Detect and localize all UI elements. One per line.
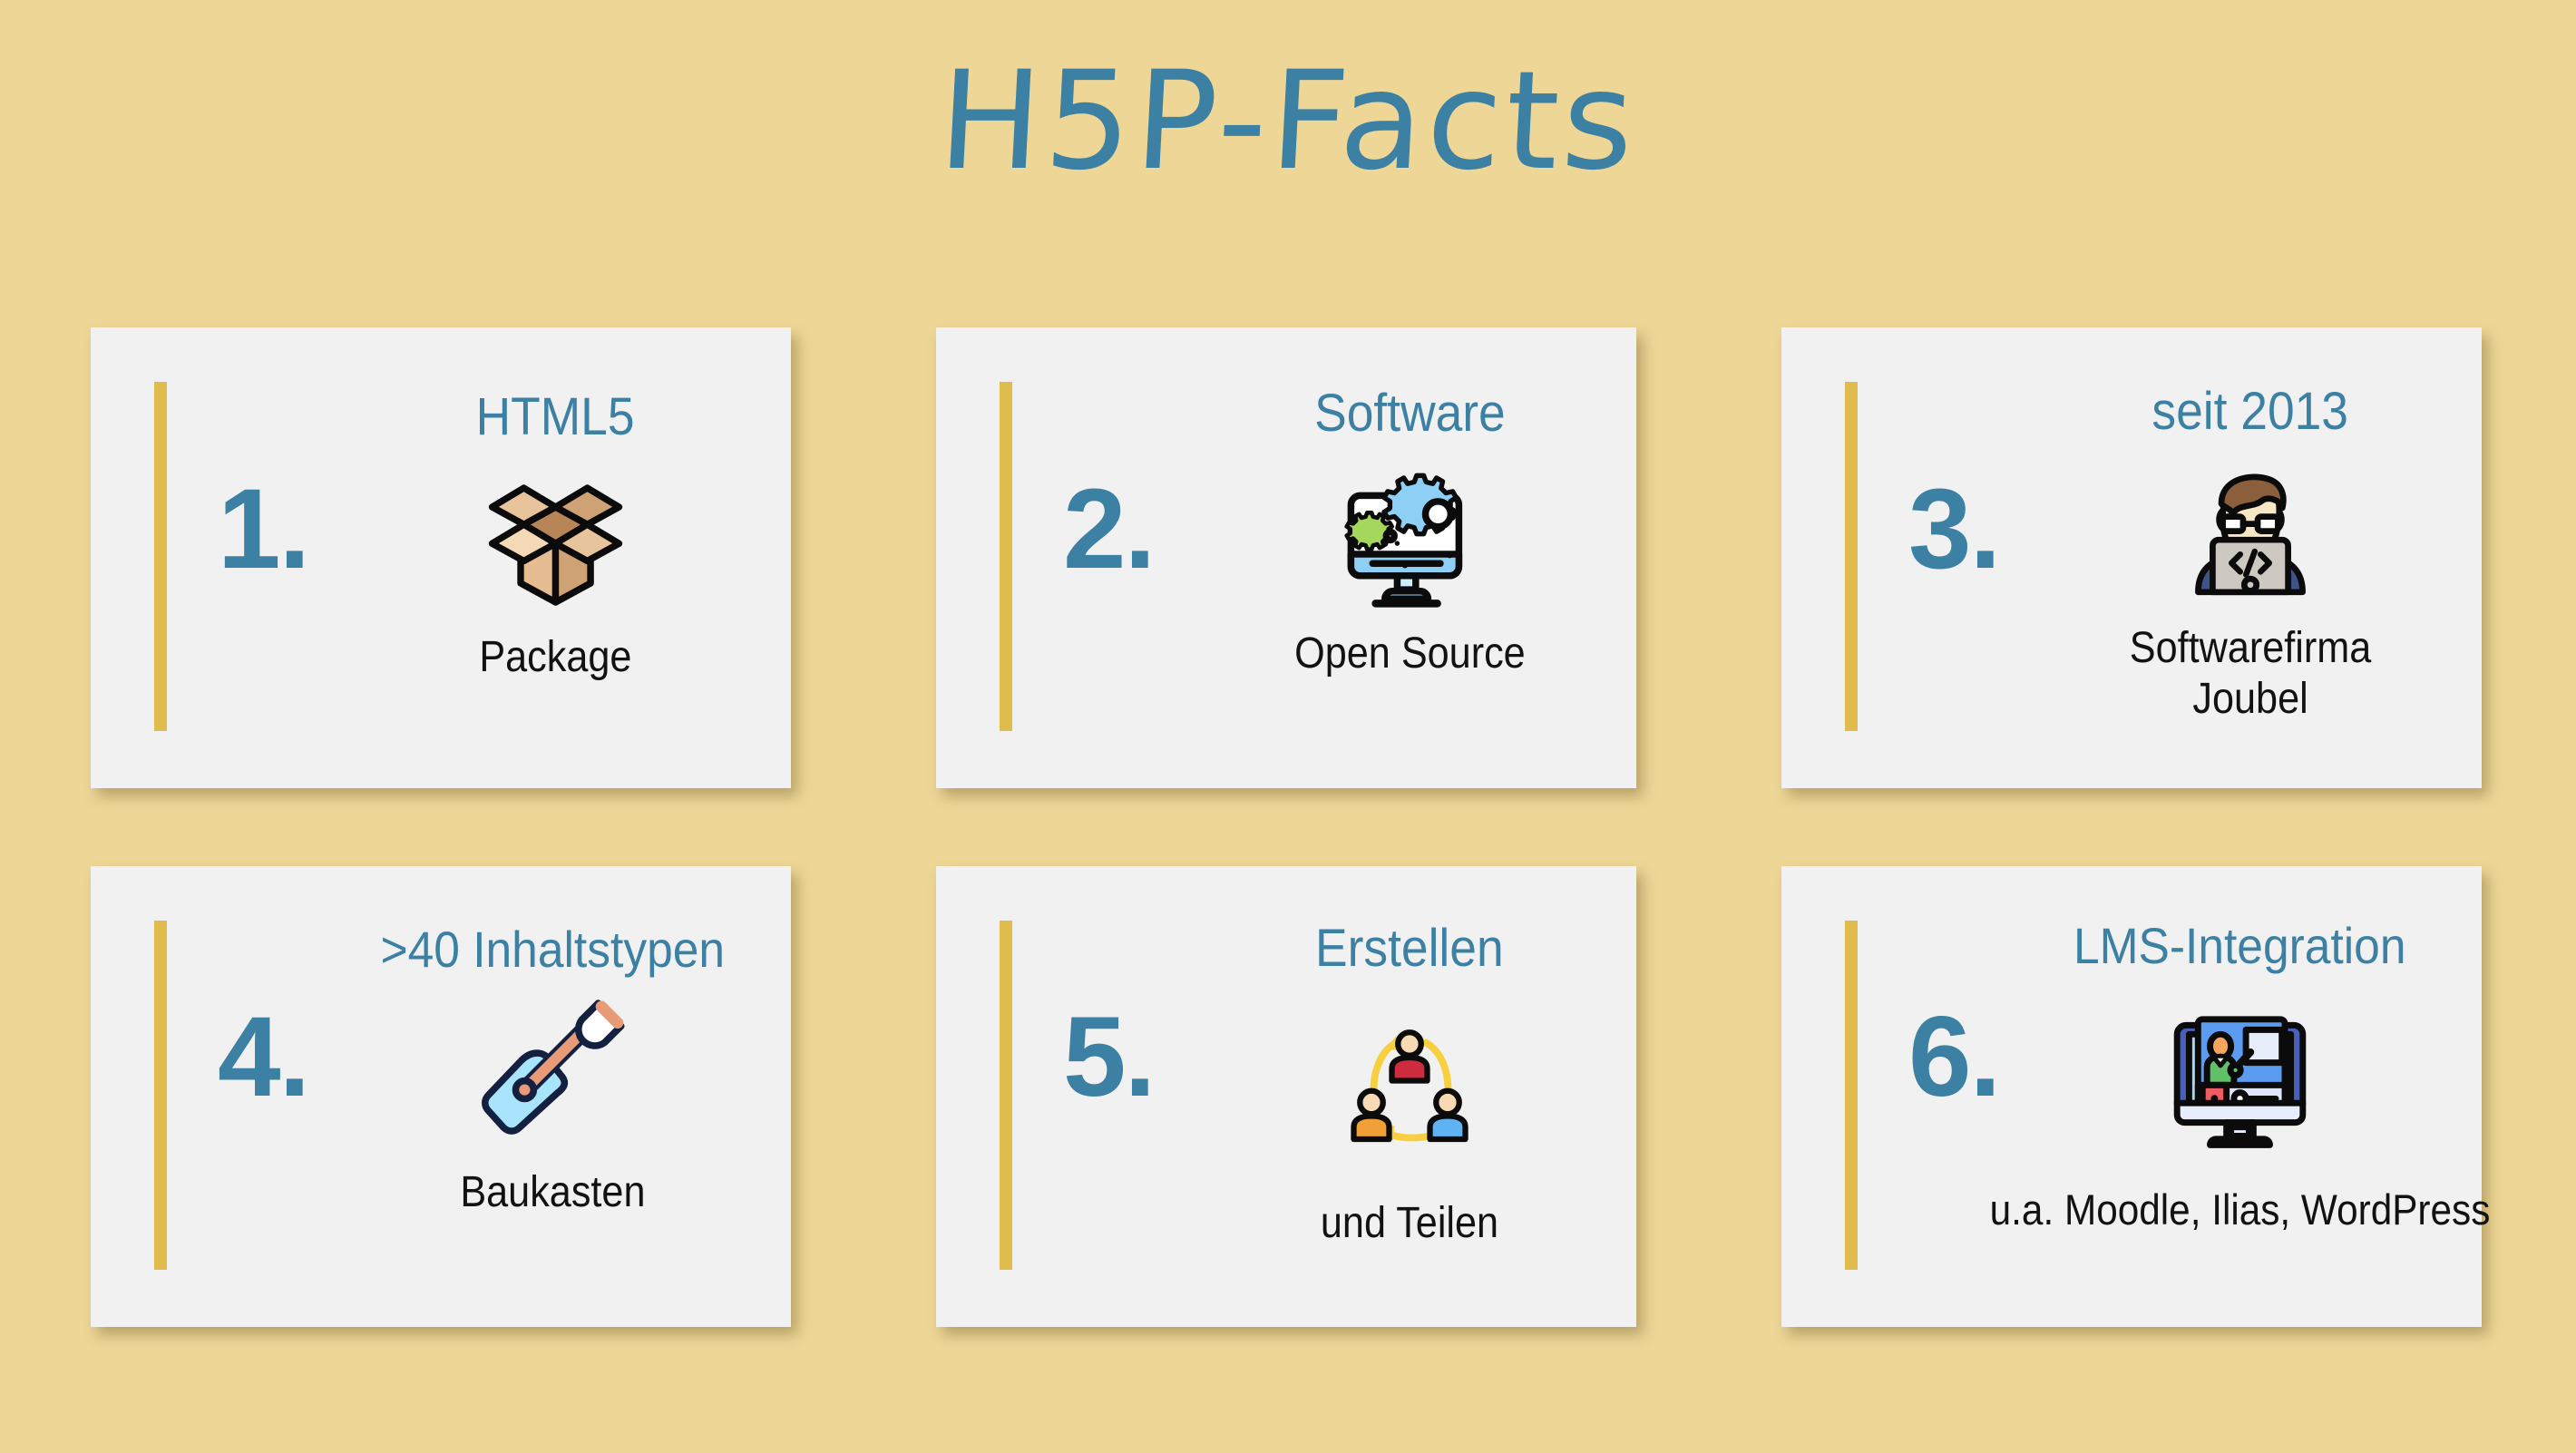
accent-bar <box>154 921 167 1270</box>
fact-heading: Erstellen <box>1315 922 1504 975</box>
fact-number: 5. <box>1063 1000 1199 1114</box>
cardboard-box-icon <box>476 458 635 612</box>
fact-subtitle: Open Source <box>1294 629 1526 679</box>
fact-card-1[interactable]: 1. HTML5 <box>91 327 791 788</box>
fact-subtitle: Package <box>479 632 631 683</box>
infographic-page: H5P-Facts 1. HTML5 <box>0 0 2576 1453</box>
fact-card-2[interactable]: 2. Software <box>936 327 1636 788</box>
monitor-gears-icon <box>1332 462 1487 616</box>
fact-card-5[interactable]: 5. Erstellen <box>936 866 1636 1327</box>
fact-number: 3. <box>1908 473 2044 586</box>
fact-heading: LMS-Integration <box>2073 921 2406 971</box>
fact-subtitle: Baukasten <box>460 1167 645 1218</box>
fact-subtitle: SoftwarefirmaJoubel <box>2130 623 2371 724</box>
fact-content: LMS-Integration <box>2004 866 2476 1327</box>
accent-bar <box>1000 921 1012 1270</box>
page-title: H5P-Facts <box>0 47 2576 197</box>
trowel-icon <box>471 980 634 1144</box>
subtitle-line-1: Softwarefirma <box>2130 624 2371 672</box>
fact-heading: seit 2013 <box>2152 385 2349 438</box>
fact-number: 2. <box>1063 473 1199 586</box>
accent-bar <box>1845 382 1858 731</box>
subtitle-line-2: Joubel <box>2192 675 2308 723</box>
fact-content: >40 Inhaltstypen Bauk <box>317 866 787 1327</box>
fact-subtitle: u.a. Moodle, Ilias, WordPress <box>1990 1185 2491 1235</box>
fact-heading: HTML5 <box>476 391 635 444</box>
fact-content: seit 2013 <box>2035 327 2465 788</box>
accent-bar <box>1000 382 1012 731</box>
fact-card-3[interactable]: 3. seit 2013 <box>1781 327 2482 788</box>
fact-heading: >40 Inhaltstypen <box>380 924 725 975</box>
fact-heading: Software <box>1314 387 1506 440</box>
people-sharing-icon <box>1342 1008 1478 1162</box>
fact-card-4[interactable]: 4. >40 Inhaltstypen <box>91 866 791 1327</box>
developer-laptop-icon <box>2178 460 2323 614</box>
fact-subtitle: und Teilen <box>1321 1198 1498 1249</box>
facts-grid: 1. HTML5 <box>91 327 2485 1327</box>
accent-bar <box>1845 921 1858 1270</box>
fact-content: Software <box>1199 327 1620 788</box>
fact-card-6[interactable]: 6. LMS-Integration <box>1781 866 2482 1327</box>
e-learning-monitor-icon <box>2165 999 2315 1153</box>
accent-bar <box>154 382 167 731</box>
fact-number: 1. <box>218 473 354 586</box>
fact-content: HTML5 <box>336 327 775 788</box>
fact-content: Erstellen <box>1199 866 1620 1327</box>
